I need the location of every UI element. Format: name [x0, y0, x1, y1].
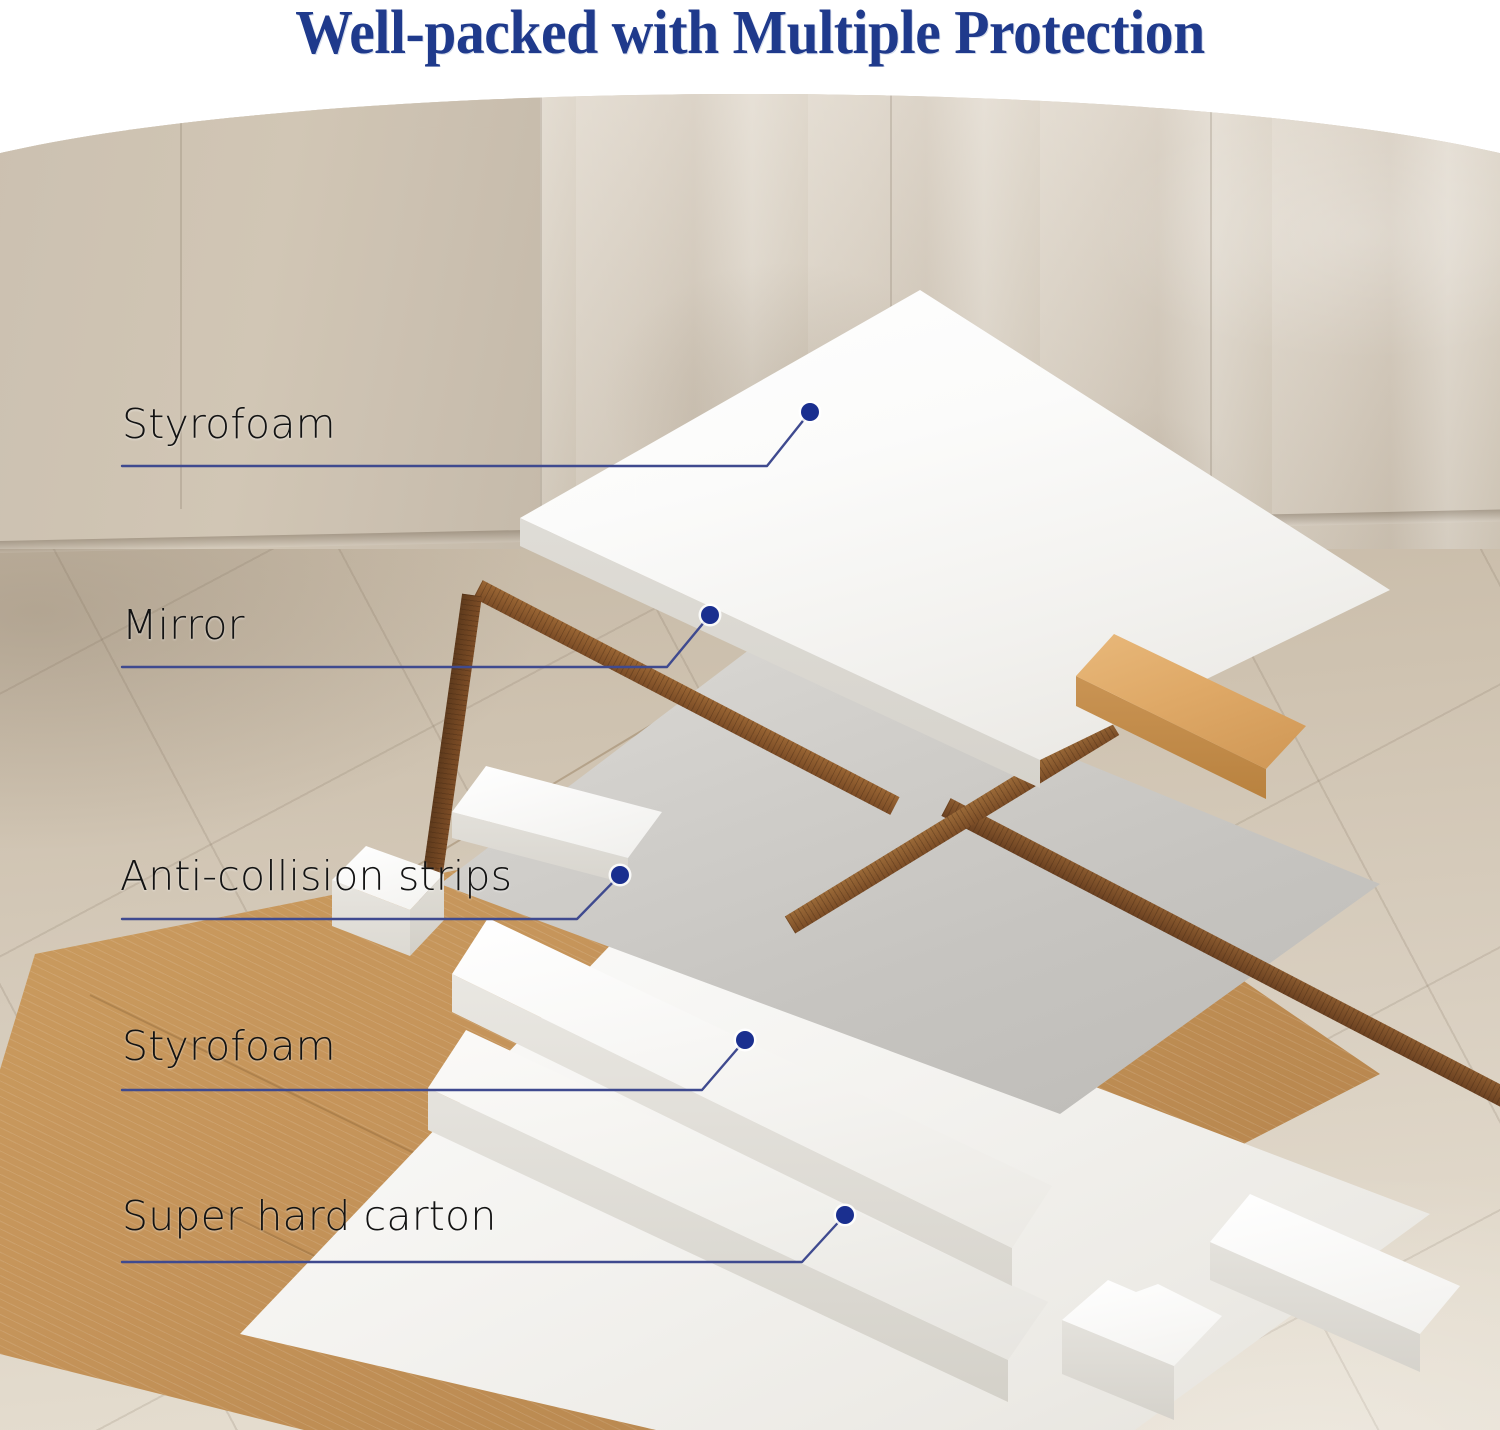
callout-label-super-hard-carton: Super hard carton	[122, 1192, 497, 1240]
callout-label-styrofoam-top: Styrofoam	[122, 400, 336, 448]
page-title: Well-packed with Multiple Protection	[53, 0, 1448, 70]
callout-label-anti-collision: Anti-collision strips	[120, 852, 512, 900]
mirror-frame-bottom	[785, 718, 1119, 934]
wall-seam-1	[540, 94, 542, 564]
callout-label-mirror: Mirror	[122, 601, 245, 649]
callout-label-styrofoam-strip: Styrofoam	[122, 1022, 336, 1070]
